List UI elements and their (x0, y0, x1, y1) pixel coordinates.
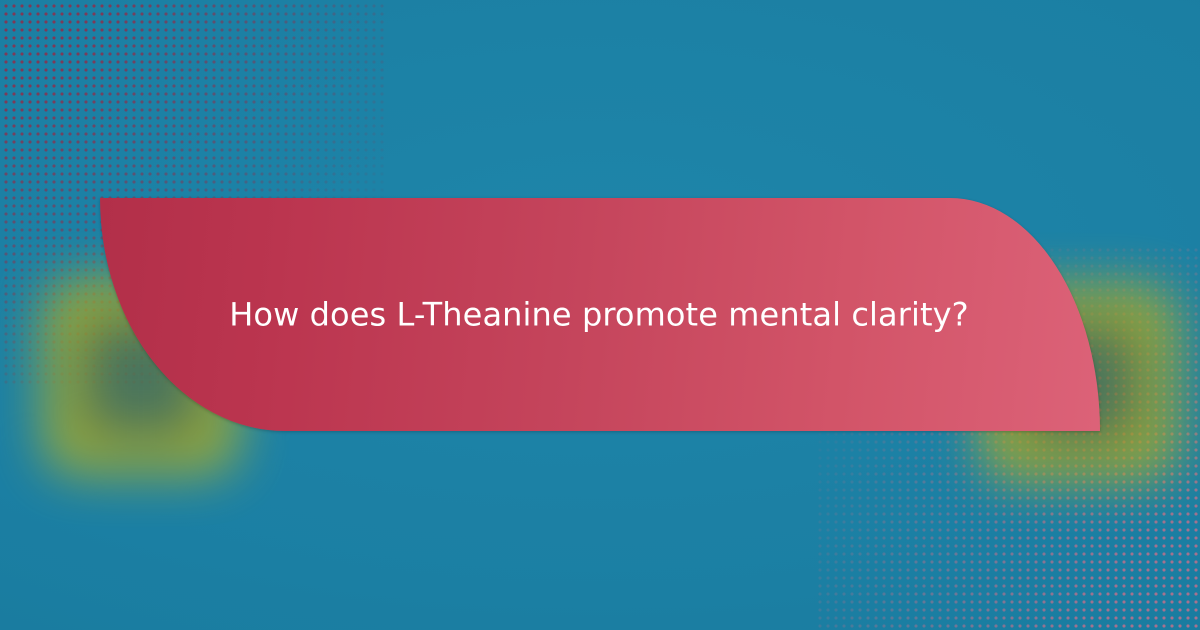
banner-title-text: How does L-Theanine promote mental clari… (100, 294, 1100, 335)
title-banner: How does L-Theanine promote mental clari… (100, 198, 1100, 431)
social-share-card: How does L-Theanine promote mental clari… (0, 0, 1200, 630)
